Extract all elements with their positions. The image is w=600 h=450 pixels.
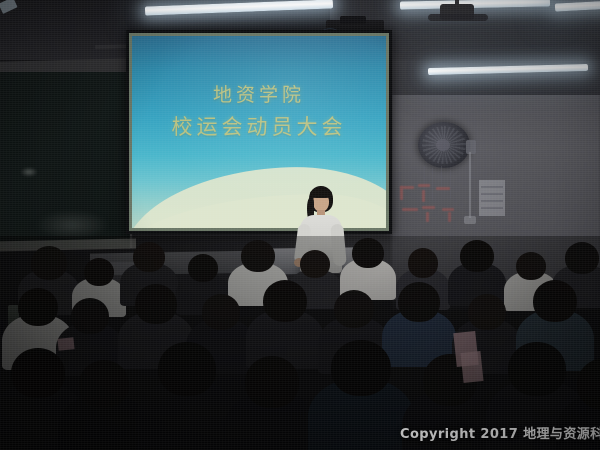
audience-person-head: [516, 252, 546, 280]
blackboard-left: [0, 72, 132, 248]
audience: [0, 236, 600, 450]
audience-person-head: [71, 298, 109, 334]
copyright-watermark: Copyright 2017 地理与资源科学学院: [400, 423, 600, 442]
audience-person-head: [300, 250, 330, 278]
audience-person-head: [31, 246, 67, 280]
audience-person-head: [468, 294, 506, 330]
wall-notice-paper: [479, 180, 505, 216]
handout-paper: [57, 337, 74, 351]
audience-person-head: [263, 280, 307, 322]
handout-paper: [460, 351, 483, 383]
audience-person-head: [352, 238, 384, 268]
audience-person-head: [565, 242, 599, 274]
audience-person-head: [241, 240, 275, 272]
audience-person-head: [11, 348, 65, 398]
audience-person-head: [133, 242, 165, 272]
audience-person-head: [18, 288, 58, 326]
wall-fan-hub: [436, 139, 450, 151]
audience-person-head: [533, 280, 577, 322]
presenter-hair-front: [310, 189, 332, 198]
audience-person-head: [245, 356, 299, 408]
audience-person-head: [202, 294, 240, 330]
audience-person-head: [334, 290, 374, 328]
wall-fan-neck: [466, 140, 476, 154]
lecture-hall-photo: 地资学院 校运会动员大会: [0, 0, 600, 450]
audience-person-head: [84, 258, 114, 286]
audience-person-head: [398, 282, 440, 322]
audience-person-head: [408, 248, 438, 278]
audience-person-head: [158, 342, 216, 396]
projector-top: [340, 16, 366, 24]
audience-person-head: [460, 240, 494, 272]
audience-person: [308, 340, 414, 450]
audience-person-head: [79, 360, 129, 408]
audience-person-head: [135, 284, 177, 324]
ceiling-fan-blade: [428, 14, 488, 21]
chalk-mark: [20, 167, 38, 177]
audience-person: [224, 356, 320, 450]
audience-person-head: [331, 340, 391, 396]
whiteboard-red-writing: [398, 182, 476, 226]
audience-person: [136, 342, 238, 450]
audience-person-head: [188, 254, 218, 282]
